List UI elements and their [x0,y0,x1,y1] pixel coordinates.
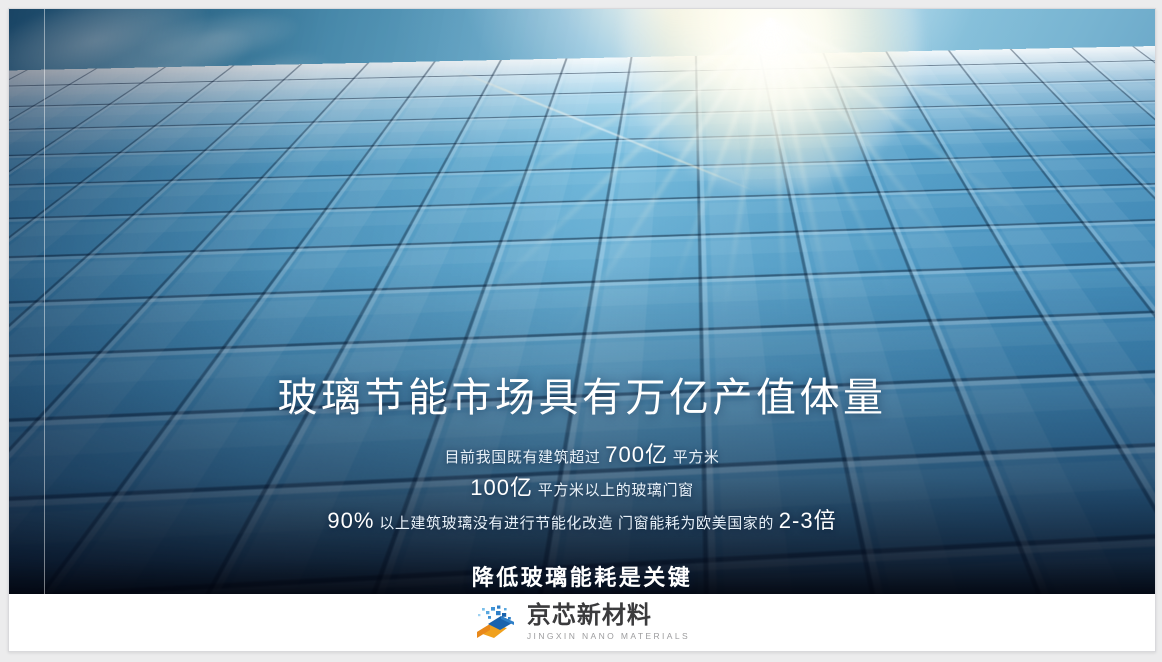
brand-lockup: 京芯新材料 JINGXIN NANO MATERIALS [474,604,690,641]
slide-card: 玻璃节能市场具有万亿产值体量 目前我国既有建筑超过 700亿 平方米 100亿 … [8,8,1156,652]
hero-image-glass-skyscraper: 玻璃节能市场具有万亿产值体量 目前我国既有建筑超过 700亿 平方米 100亿 … [9,9,1155,594]
footer-bar: 京芯新材料 JINGXIN NANO MATERIALS [9,594,1155,651]
slide-root: 玻璃节能市场具有万亿产值体量 目前我国既有建筑超过 700亿 平方米 100亿 … [0,0,1162,662]
brand-name-en: JINGXIN NANO MATERIALS [527,632,690,641]
brand-text: 京芯新材料 JINGXIN NANO MATERIALS [527,604,690,641]
brand-name-cn: 京芯新材料 [527,604,690,628]
pixel-rhombus-logo-icon [474,605,516,641]
